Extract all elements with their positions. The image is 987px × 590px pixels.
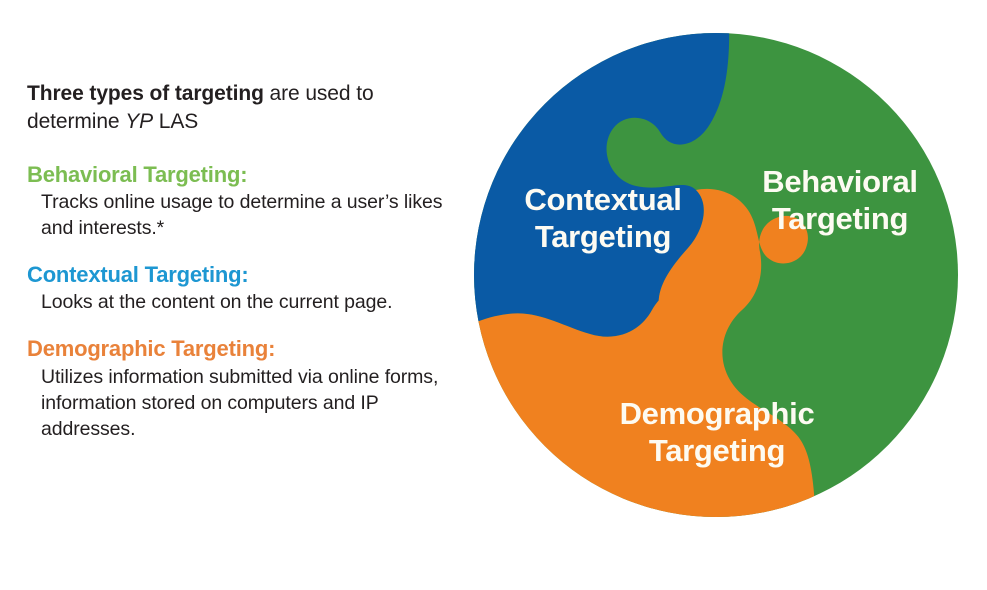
block-demographic: Demographic Targeting: Utilizes informat… <box>27 336 447 442</box>
body-behavioral-targeting: Tracks online usage to determine a user’… <box>41 190 447 242</box>
intro-bold-lead: Three types of targeting <box>27 82 264 105</box>
label-contextual-line1: Contextual <box>524 182 681 217</box>
body-demographic-targeting: Utilizes information submitted via onlin… <box>41 365 447 443</box>
body-contextual-targeting: Looks at the content on the current page… <box>41 290 447 316</box>
puzzle-circle-diagram: Contextual Targeting Behavioral Targetin… <box>464 20 974 530</box>
label-demographic-line2: Targeting <box>649 433 785 468</box>
puzzle-svg: Contextual Targeting Behavioral Targetin… <box>464 20 974 530</box>
heading-demographic-targeting: Demographic Targeting: <box>27 336 447 362</box>
label-demographic-line1: Demographic <box>620 396 815 431</box>
label-contextual-line2: Targeting <box>535 219 671 254</box>
heading-contextual-targeting: Contextual Targeting: <box>27 262 447 288</box>
intro-italic-term: YP <box>125 110 153 133</box>
block-behavioral: Behavioral Targeting: Tracks online usag… <box>27 162 447 242</box>
targeting-text-panel: Three types of targeting are used to det… <box>27 80 447 443</box>
block-contextual: Contextual Targeting: Looks at the conte… <box>27 262 447 316</box>
label-behavioral-line2: Targeting <box>772 201 908 236</box>
heading-behavioral-targeting: Behavioral Targeting: <box>27 162 447 188</box>
intro-text-after-italic: LAS <box>153 110 198 133</box>
label-behavioral-line1: Behavioral <box>762 164 918 199</box>
intro-paragraph: Three types of targeting are used to det… <box>27 80 447 136</box>
